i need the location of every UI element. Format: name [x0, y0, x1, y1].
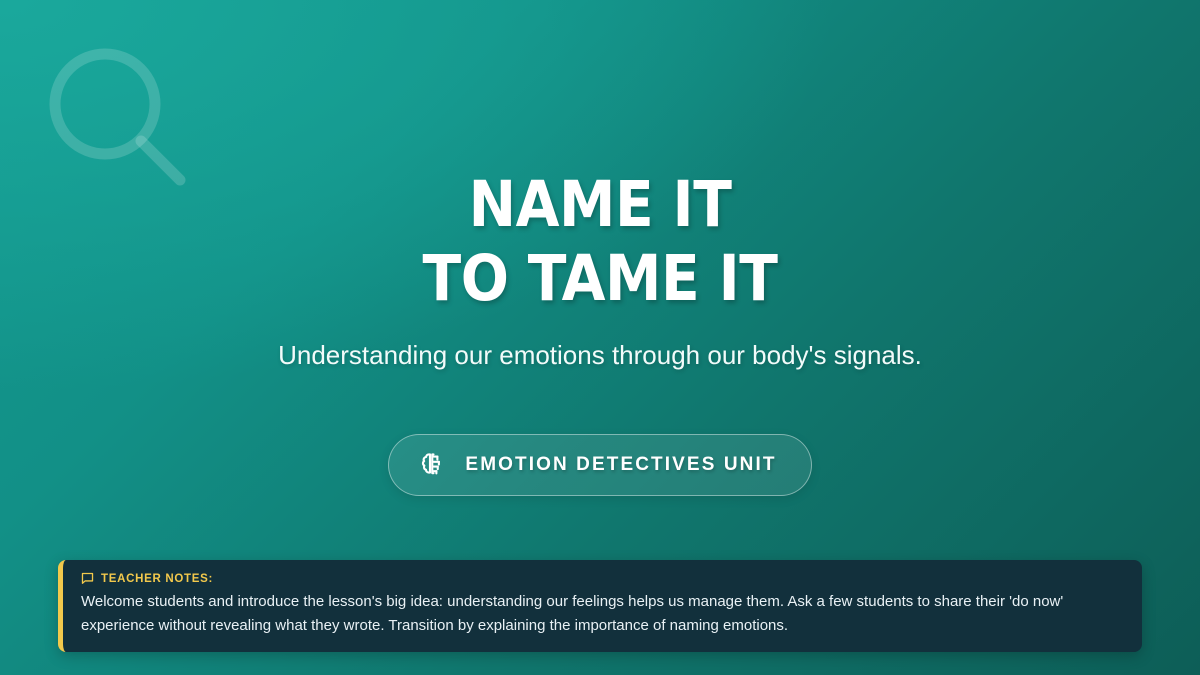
teacher-notes-panel: TEACHER NOTES: Welcome students and intr… [58, 560, 1142, 652]
title-line-2: TO TAME IT [60, 242, 1140, 316]
comment-icon [81, 572, 94, 585]
teacher-notes-label: TEACHER NOTES: [101, 573, 213, 585]
page-title: NAME IT TO TAME IT [60, 168, 1140, 316]
hero-section: NAME IT TO TAME IT Understanding our emo… [0, 168, 1200, 372]
badge-container: EMOTION DETECTIVES UNIT [0, 434, 1200, 496]
page-subtitle: Understanding our emotions through our b… [0, 338, 1200, 372]
teacher-notes-header: TEACHER NOTES: [81, 572, 1124, 585]
brain-icon [417, 450, 447, 480]
unit-badge[interactable]: EMOTION DETECTIVES UNIT [388, 434, 811, 496]
teacher-notes-body: Welcome students and introduce the lesso… [81, 590, 1124, 638]
unit-badge-label: EMOTION DETECTIVES UNIT [465, 454, 776, 476]
title-line-1: NAME IT [60, 168, 1140, 242]
slide-root: NAME IT TO TAME IT Understanding our emo… [0, 0, 1200, 675]
